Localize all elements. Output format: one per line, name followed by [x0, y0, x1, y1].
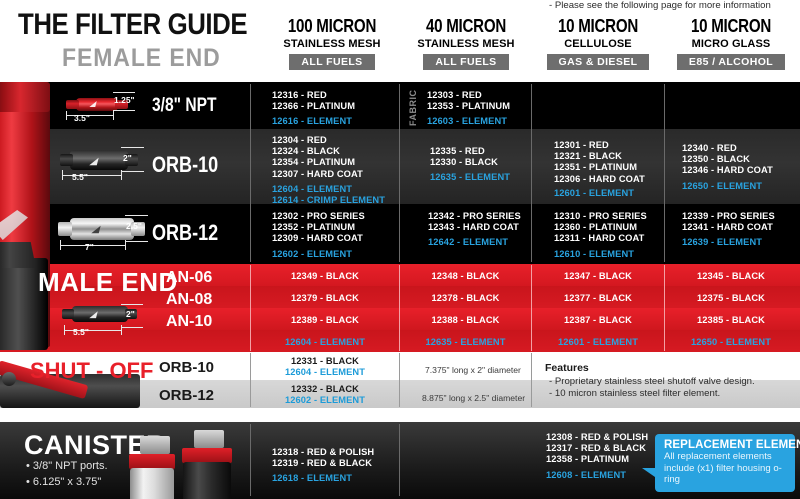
dim-tick-orb12-l — [60, 240, 61, 250]
part-line-element: 12604 - ELEMENT — [251, 367, 399, 378]
row-label-orb10: ORB-10 — [152, 152, 218, 178]
column-media: STAINLESS MESH — [266, 38, 398, 50]
column-fuel-badge: GAS & DIESEL — [547, 54, 650, 70]
dim-tick-npt-r — [113, 111, 114, 120]
part-line: 12349 - BLACK — [251, 271, 399, 282]
column-header-1: 100 MICRON STAINLESS MESH ALL FUELS — [266, 16, 398, 70]
cell-orb10-100micron: 12304 - RED 12324 - BLACK 12354 - PLATIN… — [272, 135, 385, 206]
part-line: 12351 - PLATINUM — [554, 162, 645, 173]
part-line: 12316 - RED — [272, 90, 355, 101]
dim-line-v-orb12-top — [125, 215, 148, 216]
cell-an06-10micron-microglass: 12345 - BLACK — [665, 271, 797, 282]
canister-bullet: • 3/8" NPT ports. — [26, 460, 108, 472]
part-line-element: 12639 - ELEMENT — [682, 237, 775, 248]
column-micron: 10 MICRON — [676, 16, 787, 37]
column-media: CELLULOSE — [532, 38, 664, 50]
features-line: - 10 micron stainless steel filter eleme… — [549, 388, 720, 399]
row-label-an10: AN-10 — [166, 313, 212, 331]
cell-canister-col3: 12308 - RED & POLISH 12317 - RED & BLACK… — [546, 432, 648, 481]
part-line: 12306 - HARD COAT — [554, 174, 645, 185]
part-line-element: 12650 - ELEMENT — [665, 337, 797, 348]
cell-male-element-10micron-cellulose: 12601 - ELEMENT — [532, 337, 664, 348]
cell-an06-40micron: 12348 - BLACK — [400, 271, 531, 282]
dim-diameter-orb10: 2" — [123, 153, 132, 163]
dim-line-v-orb10-top — [121, 147, 144, 148]
page-title: THE FILTER GUIDE — [18, 8, 247, 42]
part-line-element: 12603 - ELEMENT — [427, 116, 510, 127]
filter-image-orb12: ◢ — [56, 212, 166, 252]
part-line-element: 12610 - ELEMENT — [554, 249, 647, 260]
dim-length-orb12: 7" — [85, 242, 94, 252]
cell-an08-10micron-microglass: 12375 - BLACK — [665, 293, 797, 304]
dim-line-v-male-bot — [121, 327, 143, 328]
part-line-element: 12601 - ELEMENT — [532, 337, 664, 348]
part-line-element: 12608 - ELEMENT — [546, 470, 648, 481]
divider-col2-col3 — [531, 84, 532, 262]
part-line: 12388 - BLACK — [400, 315, 531, 326]
part-line: 12317 - RED & BLACK — [546, 443, 648, 454]
cell-npt-100micron: 12316 - RED 12366 - PLATINUM 12616 - ELE… — [272, 90, 355, 128]
part-line: 12310 - PRO SERIES — [554, 211, 647, 222]
cell-orb12-100micron: 12302 - PRO SERIES 12352 - PLATINUM 1230… — [272, 211, 365, 260]
replacement-elements-callout: REPLACEMENT ELEMENTS All replacement ele… — [655, 434, 795, 492]
part-line: 12341 - HARD COAT — [682, 222, 775, 233]
filter-guide-sheet: THE FILTER GUIDE FEMALE END 100 MICRON S… — [0, 0, 800, 499]
part-line: 12385 - BLACK — [665, 315, 797, 326]
cell-an10-40micron: 12388 - BLACK — [400, 315, 531, 326]
cell-canister-col1: 12318 - RED & POLISH 12319 - RED & BLACK… — [272, 447, 374, 485]
part-line: 12377 - BLACK — [532, 293, 664, 304]
cell-shutoff-orb10-parts: 12331 - BLACK 12604 - ELEMENT — [251, 356, 399, 378]
dim-diameter-male: 2" — [126, 309, 135, 319]
column-header-2: 40 MICRON STAINLESS MESH ALL FUELS — [400, 16, 532, 70]
cell-orb12-40micron: 12342 - PRO SERIES 12343 - HARD COAT 126… — [428, 211, 521, 249]
dim-diameter-orb12: 2.5" — [126, 221, 142, 231]
cell-npt-40micron: 12303 - RED 12353 - PLATINUM 12603 - ELE… — [427, 90, 510, 128]
shutoff-orb12-dimension: 8.875" long x 2.5" diameter — [422, 393, 525, 403]
canister-bullet: • 6.125" x 3.75" — [26, 476, 101, 488]
dim-line-v-orb10-bot — [121, 171, 144, 172]
dim-tick-npt-l — [66, 111, 67, 120]
cell-orb10-40micron: 12335 - RED 12330 - BLACK 12635 - ELEMEN… — [430, 146, 510, 184]
row-label-an08: AN-08 — [166, 291, 212, 309]
part-line: 12348 - BLACK — [400, 271, 531, 282]
part-line: 12307 - HARD COAT — [272, 169, 385, 180]
part-line: 12389 - BLACK — [251, 315, 399, 326]
part-line: 12309 - HARD COAT — [272, 233, 365, 244]
part-line: 12346 - HARD COAT — [682, 165, 773, 176]
row-label-shutoff-orb10: ORB-10 — [159, 359, 214, 376]
cell-male-element-40micron: 12635 - ELEMENT — [400, 337, 531, 348]
part-line: 12347 - BLACK — [532, 271, 664, 282]
column-header-3: 10 MICRON CELLULOSE GAS & DIESEL — [532, 16, 664, 70]
part-line: 12303 - RED — [427, 90, 510, 101]
section-title-male-end: MALE END — [38, 267, 178, 298]
dim-line-v-male-top — [121, 304, 143, 305]
divider-col1-col2 — [399, 84, 400, 262]
part-line-element: 12601 - ELEMENT — [554, 188, 645, 199]
cell-orb10-10micron-cellulose: 12301 - RED 12321 - BLACK 12351 - PLATIN… — [554, 140, 645, 199]
part-line-element: 12604 - ELEMENT — [251, 337, 399, 348]
divider-label-col — [250, 84, 251, 262]
column-media: MICRO GLASS — [665, 38, 797, 50]
row-label-orb12: ORB-12 — [152, 220, 218, 246]
column-media: STAINLESS MESH — [400, 38, 532, 50]
part-line: 12352 - PLATINUM — [272, 222, 365, 233]
part-line-element: 12635 - ELEMENT — [400, 337, 531, 348]
part-line-element: 12642 - ELEMENT — [428, 237, 521, 248]
divider-label-col-canister — [250, 424, 251, 496]
part-line: 12324 - BLACK — [272, 146, 385, 157]
part-line: 12387 - BLACK — [532, 315, 664, 326]
dim-length-orb10: 5.5" — [72, 172, 88, 182]
callout-line-2: include (x1) filter housing o-ring — [664, 463, 787, 486]
dim-length-npt: 3.5" — [74, 113, 90, 123]
column-micron: 40 MICRON — [411, 16, 522, 37]
features-line: - Proprietary stainless steel shutoff va… — [549, 376, 755, 387]
part-line: 12311 - HARD COAT — [554, 233, 647, 244]
part-line: 12304 - RED — [272, 135, 385, 146]
divider-col1-col2-canister — [399, 424, 400, 496]
cell-an08-100micron: 12379 - BLACK — [251, 293, 399, 304]
cell-orb12-10micron-microglass: 12339 - PRO SERIES 12341 - HARD COAT 126… — [682, 211, 775, 249]
dim-length-male: 5.5" — [73, 327, 89, 337]
shutoff-pivot-image — [2, 372, 16, 386]
cell-an08-10micron-cellulose: 12377 - BLACK — [532, 293, 664, 304]
cell-an08-40micron: 12378 - BLACK — [400, 293, 531, 304]
cell-an10-10micron-cellulose: 12387 - BLACK — [532, 315, 664, 326]
part-line: 12354 - PLATINUM — [272, 157, 385, 168]
dim-tick-orb10-l — [62, 170, 63, 180]
section-subtitle: FEMALE END — [62, 44, 221, 73]
callout-title: REPLACEMENT ELEMENTS — [664, 439, 787, 451]
part-line: 12335 - RED — [430, 146, 510, 157]
dim-line-h-orb10 — [62, 175, 122, 176]
dim-line-v-orb12-bot — [125, 241, 148, 242]
part-line: 12318 - RED & POLISH — [272, 447, 374, 458]
features-title: Features — [545, 362, 589, 374]
canister-image-black — [178, 430, 238, 498]
part-line-element: 12650 - ELEMENT — [682, 181, 773, 192]
part-line: 12340 - RED — [682, 143, 773, 154]
part-line: 12350 - BLACK — [682, 154, 773, 165]
part-line: 12360 - PLATINUM — [554, 222, 647, 233]
part-line: 12378 - BLACK — [400, 293, 531, 304]
part-line-element: 12635 - ELEMENT — [430, 172, 510, 183]
part-line: 12379 - BLACK — [251, 293, 399, 304]
dim-tick-male-l — [64, 325, 65, 335]
divider-col2-col3-shutoff — [531, 353, 532, 407]
section-title-shut-off: SHUT - OFF — [30, 358, 153, 384]
part-line: 12358 - PLATINUM — [546, 454, 648, 465]
part-line-element: 12618 - ELEMENT — [272, 473, 374, 484]
part-line-element: 12614 - CRIMP ELEMENT — [272, 195, 385, 206]
page-header: THE FILTER GUIDE FEMALE END 100 MICRON S… — [0, 0, 800, 82]
row-label-shutoff-orb12: ORB-12 — [159, 387, 214, 404]
column-fuel-badge: E85 / ALCOHOL — [677, 54, 785, 70]
part-line: 12302 - PRO SERIES — [272, 211, 365, 222]
part-line: 12331 - BLACK — [251, 356, 399, 367]
dim-diameter-npt: 1.25" — [114, 95, 135, 105]
part-line: 12308 - RED & POLISH — [546, 432, 648, 443]
column-header-4: 10 MICRON MICRO GLASS E85 / ALCOHOL — [665, 16, 797, 70]
part-line-element: 12616 - ELEMENT — [272, 116, 355, 127]
divider-col1-col2-shutoff — [399, 353, 400, 407]
part-line-element: 12602 - ELEMENT — [272, 249, 365, 260]
cell-an06-10micron-cellulose: 12347 - BLACK — [532, 271, 664, 282]
part-line: 12321 - BLACK — [554, 151, 645, 162]
part-line: 12332 - BLACK — [251, 384, 399, 395]
part-line: 12343 - HARD COAT — [428, 222, 521, 233]
part-line: 12375 - BLACK — [665, 293, 797, 304]
column-micron: 100 MICRON — [277, 16, 388, 37]
part-line: 12339 - PRO SERIES — [682, 211, 775, 222]
callout-tail-icon — [642, 468, 655, 477]
cell-orb12-10micron-cellulose: 12310 - PRO SERIES 12360 - PLATINUM 1231… — [554, 211, 647, 260]
canister-image-polish — [126, 436, 186, 498]
dim-line-v-npt-top — [113, 92, 135, 93]
column-fuel-badge: ALL FUELS — [289, 54, 374, 70]
cell-an06-100micron: 12349 - BLACK — [251, 271, 399, 282]
part-line-element: 12602 - ELEMENT — [251, 395, 399, 406]
divider-col3-col4 — [664, 84, 665, 262]
cell-an10-10micron-microglass: 12385 - BLACK — [665, 315, 797, 326]
row-label-an06: AN-06 — [166, 269, 212, 287]
part-line: 12366 - PLATINUM — [272, 101, 355, 112]
part-line: 12301 - RED — [554, 140, 645, 151]
part-line: 12342 - PRO SERIES — [428, 211, 521, 222]
part-line: 12330 - BLACK — [430, 157, 510, 168]
cell-orb10-10micron-microglass: 12340 - RED 12350 - BLACK 12346 - HARD C… — [682, 143, 773, 192]
features-line: - Please see the following page for more… — [549, 0, 771, 11]
cell-an10-100micron: 12389 - BLACK — [251, 315, 399, 326]
fabric-label: FABRIC — [408, 90, 418, 127]
cell-shutoff-orb12-parts: 12332 - BLACK 12602 - ELEMENT — [251, 384, 399, 406]
part-line: 12319 - RED & BLACK — [272, 458, 374, 469]
dim-line-v-npt-bot — [113, 110, 135, 111]
column-micron: 10 MICRON — [543, 16, 654, 37]
part-line: 12345 - BLACK — [665, 271, 797, 282]
part-line-element: 12604 - ELEMENT — [272, 184, 385, 195]
shutoff-orb10-dimension: 7.375" long x 2" diameter — [425, 365, 521, 375]
cell-male-element-10micron-microglass: 12650 - ELEMENT — [665, 337, 797, 348]
row-label-npt: 3/8" NPT — [152, 95, 217, 117]
column-fuel-badge: ALL FUELS — [423, 54, 508, 70]
part-line: 12353 - PLATINUM — [427, 101, 510, 112]
callout-line-1: All replacement elements — [664, 451, 787, 463]
cell-male-element-100micron: 12604 - ELEMENT — [251, 337, 399, 348]
